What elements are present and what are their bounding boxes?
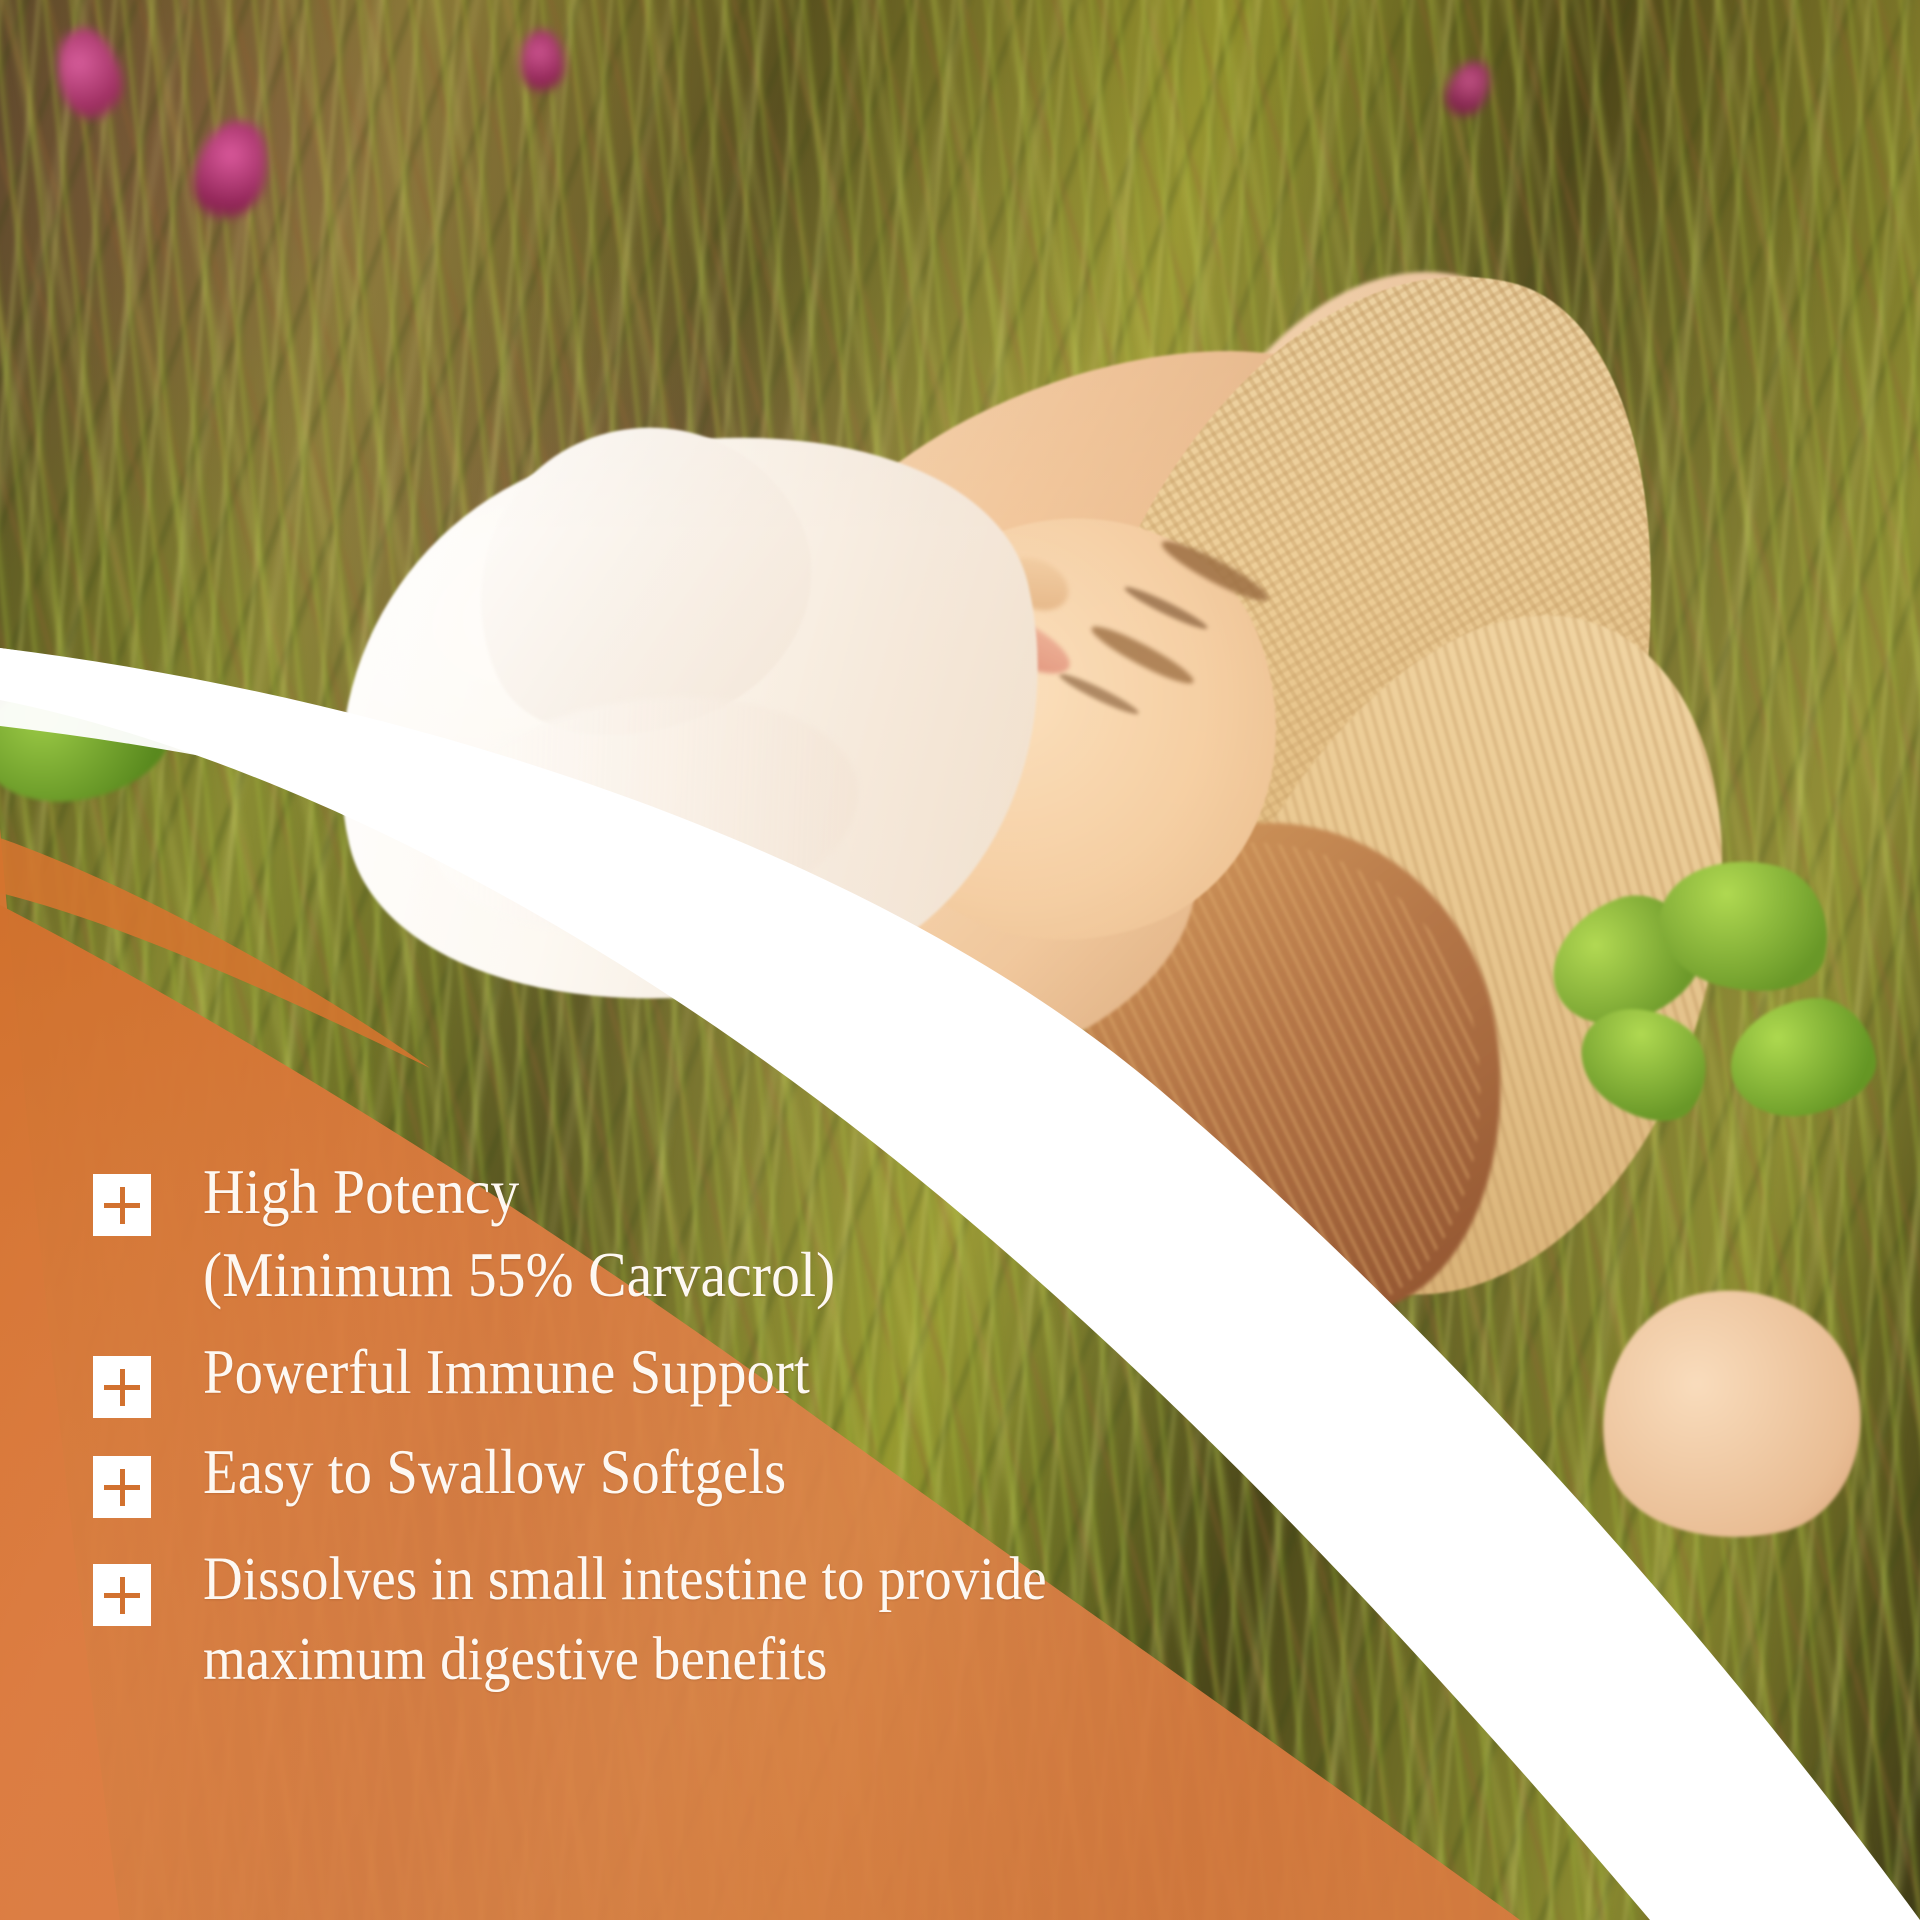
feature-label: Easy to Swallow Softgels [203,1432,786,1514]
plus-icon [93,1564,151,1626]
plus-icon [93,1456,151,1518]
feature-item-high-potency: High Potency (Minimum 55% Carvacrol) [93,1150,1593,1316]
feature-item-dissolves-intestine: Dissolves in small intestine to provide … [93,1540,1593,1699]
feature-label: Dissolves in small intestine to provide … [203,1540,1047,1699]
feature-item-immune-support: Powerful Immune Support [93,1332,1593,1418]
feature-label: High Potency (Minimum 55% Carvacrol) [203,1150,835,1316]
product-feature-card: High Potency (Minimum 55% Carvacrol) Pow… [0,0,1920,1920]
feature-list: High Potency (Minimum 55% Carvacrol) Pow… [93,1150,1593,1721]
feature-item-easy-swallow: Easy to Swallow Softgels [93,1432,1593,1518]
feature-label: Powerful Immune Support [203,1332,810,1414]
plus-icon [93,1356,151,1418]
plus-icon [93,1174,151,1236]
